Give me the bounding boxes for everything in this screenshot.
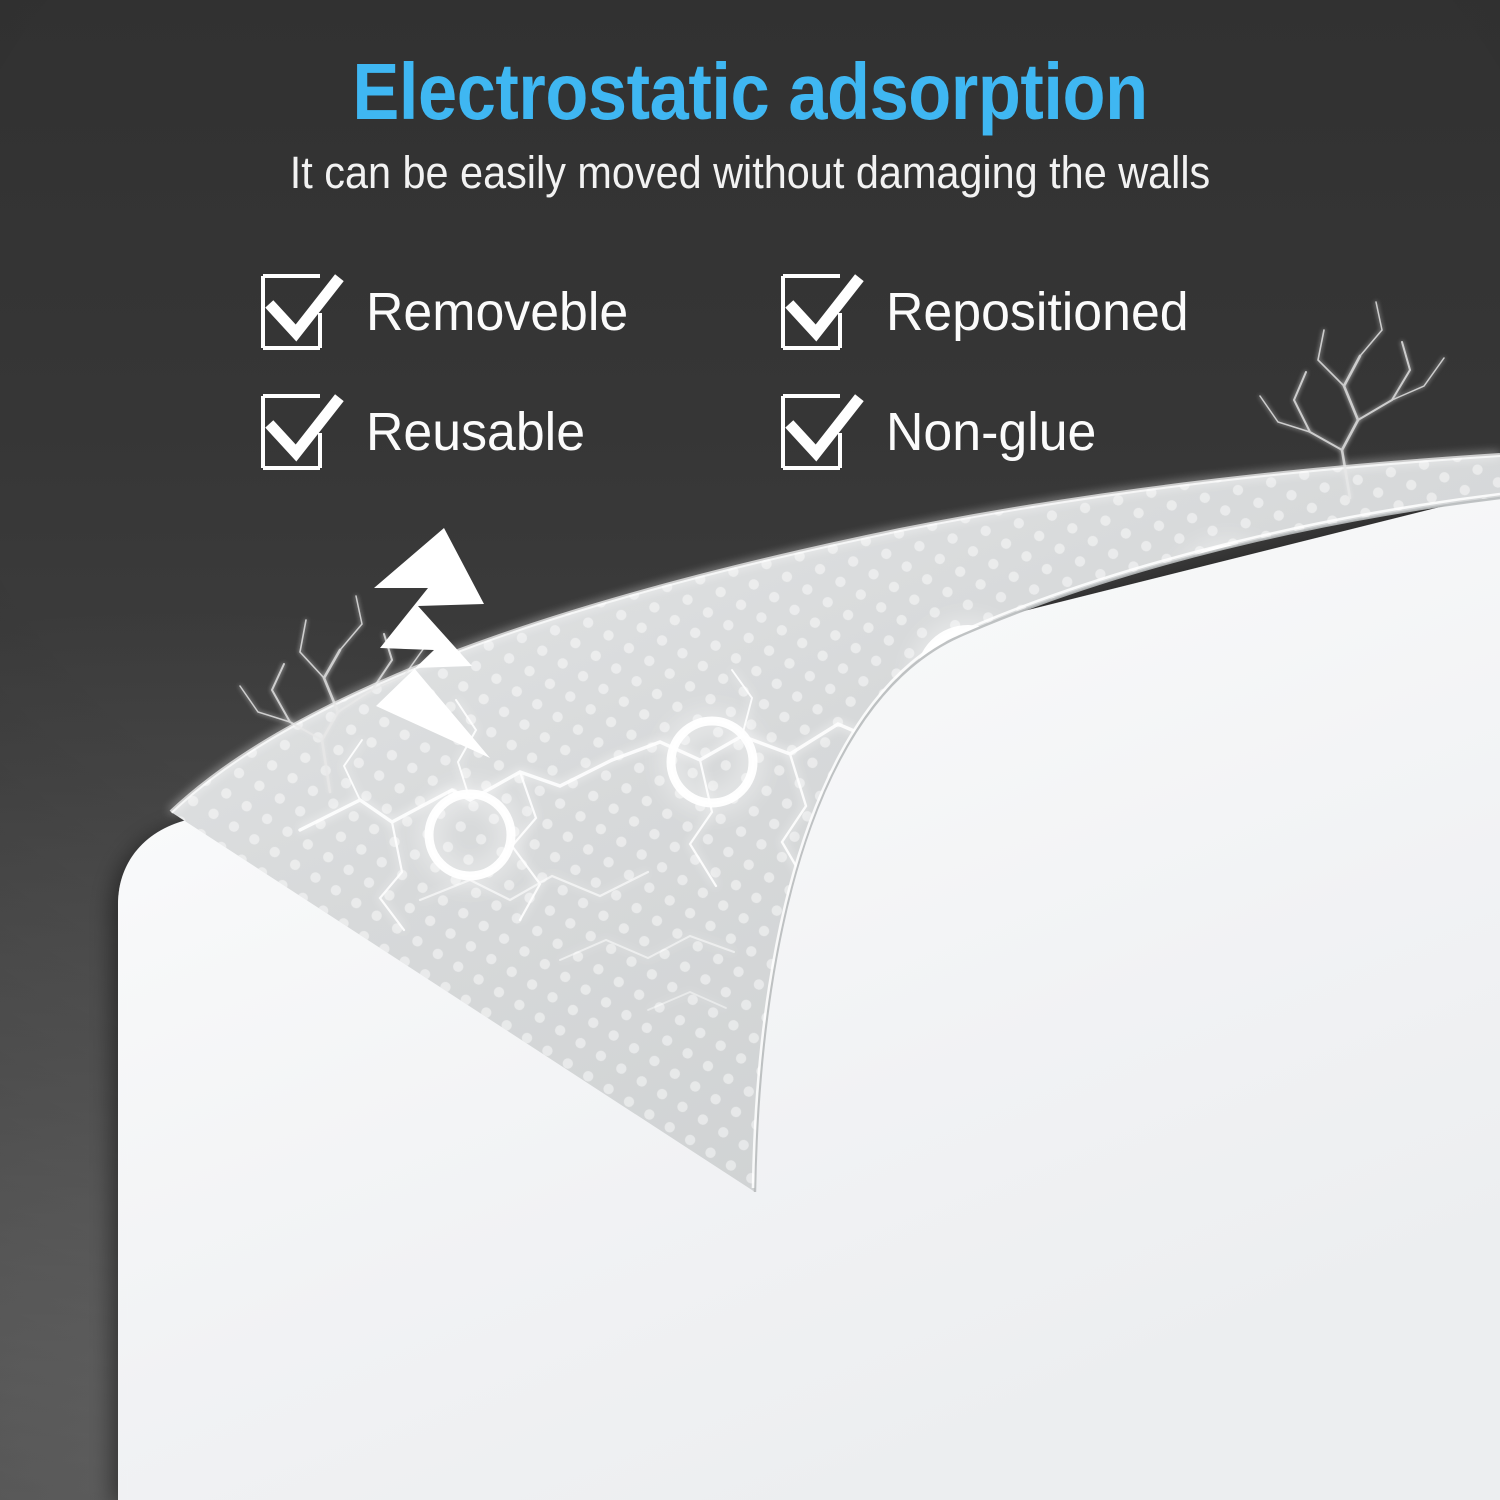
feature-label: Repositioned	[886, 285, 1189, 339]
feature-item-removeble: Removeble	[258, 252, 778, 372]
page-title: Electrostatic adsorption	[90, 52, 1410, 132]
header-block: Electrostatic adsorption It can be easil…	[0, 52, 1500, 195]
feature-item-non-glue: Non-glue	[778, 372, 1268, 492]
feature-label: Non-glue	[886, 405, 1096, 459]
checkbox-checked-icon	[258, 269, 344, 355]
feature-label: Removeble	[366, 285, 628, 339]
lightning-bolt-icon	[372, 528, 552, 758]
feature-label: Reusable	[366, 405, 585, 459]
sticker-sheet-illustration	[0, 0, 1500, 1500]
page-subtitle: It can be easily moved without damaging …	[60, 150, 1440, 195]
product-feature-graphic: Electrostatic adsorption It can be easil…	[0, 0, 1500, 1500]
feature-item-repositioned: Repositioned	[778, 252, 1268, 372]
checkbox-checked-icon	[778, 269, 864, 355]
feature-list: Removeble Repositioned Reusable	[258, 252, 1268, 492]
checkbox-checked-icon	[258, 389, 344, 475]
checkbox-checked-icon	[778, 389, 864, 475]
feature-item-reusable: Reusable	[258, 372, 778, 492]
